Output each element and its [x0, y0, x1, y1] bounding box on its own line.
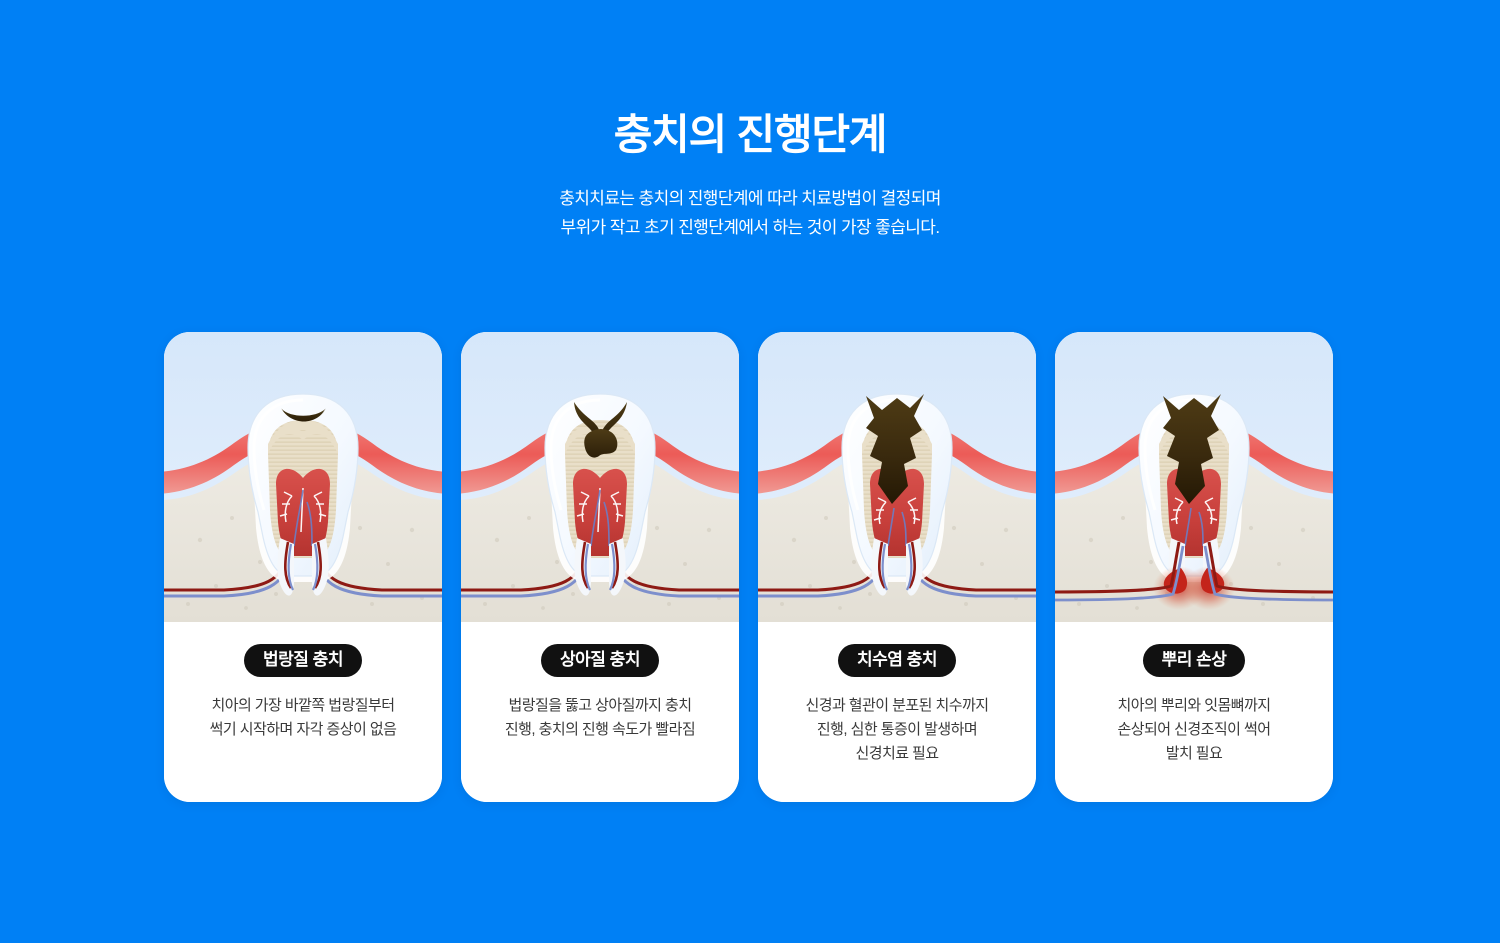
stage-description: 법랑질을 뚫고 상아질까지 충치 진행, 충치의 진행 속도가 빨라짐 — [475, 694, 725, 743]
stage-description: 신경과 혈관이 분포된 치수까지 진행, 심한 통증이 발생하며 신경치료 필요 — [772, 694, 1022, 767]
stage-card[interactable]: 상아질 충치 법랑질을 뚫고 상아질까지 충치 진행, 충치의 진행 속도가 빨… — [461, 332, 739, 802]
stage-description: 치아의 가장 바깥쪽 법랑질부터 썩기 시작하며 자각 증상이 없음 — [178, 694, 428, 743]
tooth-pulpitis-caries-illustration — [758, 332, 1036, 622]
stage-card-text: 법랑질 충치 치아의 가장 바깥쪽 법랑질부터 썩기 시작하며 자각 증상이 없… — [164, 622, 442, 802]
page-title: 충치의 진행단계 — [0, 112, 1500, 158]
stage-badge: 법랑질 충치 — [244, 644, 362, 677]
stage-card[interactable]: 법랑질 충치 치아의 가장 바깥쪽 법랑질부터 썩기 시작하며 자각 증상이 없… — [164, 332, 442, 802]
subtitle-line-2: 부위가 작고 초기 진행단계에서 하는 것이 가장 좋습니다. — [0, 213, 1500, 242]
stage-badge: 뿌리 손상 — [1143, 644, 1246, 677]
stage-card-text: 뿌리 손상 치아의 뿌리와 잇몸뼈까지 손상되어 신경조직이 썩어 발치 필요 — [1055, 622, 1333, 802]
tooth-root-damage-illustration — [1055, 332, 1333, 622]
stage-card-text: 치수염 충치 신경과 혈관이 분포된 치수까지 진행, 심한 통증이 발생하며 … — [758, 622, 1036, 802]
subtitle-line-1: 충치치료는 충치의 진행단계에 따라 치료방법이 결정되며 — [0, 184, 1500, 213]
stage-card[interactable]: 치수염 충치 신경과 혈관이 분포된 치수까지 진행, 심한 통증이 발생하며 … — [758, 332, 1036, 802]
tooth-dentin-caries-illustration — [461, 332, 739, 622]
stage-card[interactable]: 뿌리 손상 치아의 뿌리와 잇몸뼈까지 손상되어 신경조직이 썩어 발치 필요 — [1055, 332, 1333, 802]
stage-card-text: 상아질 충치 법랑질을 뚫고 상아질까지 충치 진행, 충치의 진행 속도가 빨… — [461, 622, 739, 802]
tooth-enamel-caries-illustration — [164, 332, 442, 622]
page-header: 충치의 진행단계 충치치료는 충치의 진행단계에 따라 치료방법이 결정되며 부… — [0, 0, 1500, 243]
stage-badge: 치수염 충치 — [838, 644, 956, 677]
page-subtitle: 충치치료는 충치의 진행단계에 따라 치료방법이 결정되며 부위가 작고 초기 … — [0, 184, 1500, 242]
stage-card-list: 법랑질 충치 치아의 가장 바깥쪽 법랑질부터 썩기 시작하며 자각 증상이 없… — [164, 332, 1338, 802]
stage-description: 치아의 뿌리와 잇몸뼈까지 손상되어 신경조직이 썩어 발치 필요 — [1069, 694, 1319, 767]
infographic-page: 충치의 진행단계 충치치료는 충치의 진행단계에 따라 치료방법이 결정되며 부… — [0, 0, 1500, 943]
stage-badge: 상아질 충치 — [541, 644, 659, 677]
